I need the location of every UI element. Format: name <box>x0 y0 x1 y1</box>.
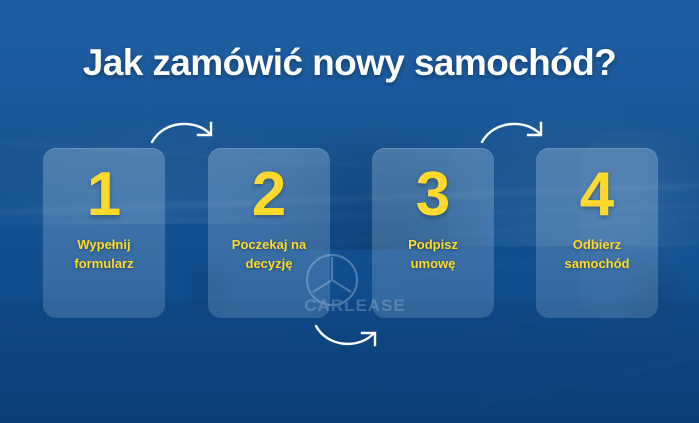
step-caption-1: Wypełnij formularz <box>70 236 137 274</box>
step-card-3[interactable]: 3 Podpisz umowę <box>372 148 494 318</box>
step-number-2: 2 <box>252 164 286 226</box>
step-caption-2: Poczekaj na decyzję <box>228 236 310 274</box>
step-caption-4: Odbierz samochód <box>560 236 633 274</box>
step-number-4: 4 <box>580 164 614 226</box>
step-card-1[interactable]: 1 Wypełnij formularz <box>43 148 165 318</box>
infographic-stage: CARLEASE Jak zamówić nowy samochód? 1 Wy… <box>0 0 699 423</box>
step-card-2[interactable]: 2 Poczekaj na decyzję <box>208 148 330 318</box>
step-cards: 1 Wypełnij formularz 2 Poczekaj na decyz… <box>0 0 699 423</box>
step-number-1: 1 <box>87 164 121 226</box>
step-card-4[interactable]: 4 Odbierz samochód <box>536 148 658 318</box>
step-caption-3: Podpisz umowę <box>404 236 462 274</box>
step-number-3: 3 <box>416 164 450 226</box>
